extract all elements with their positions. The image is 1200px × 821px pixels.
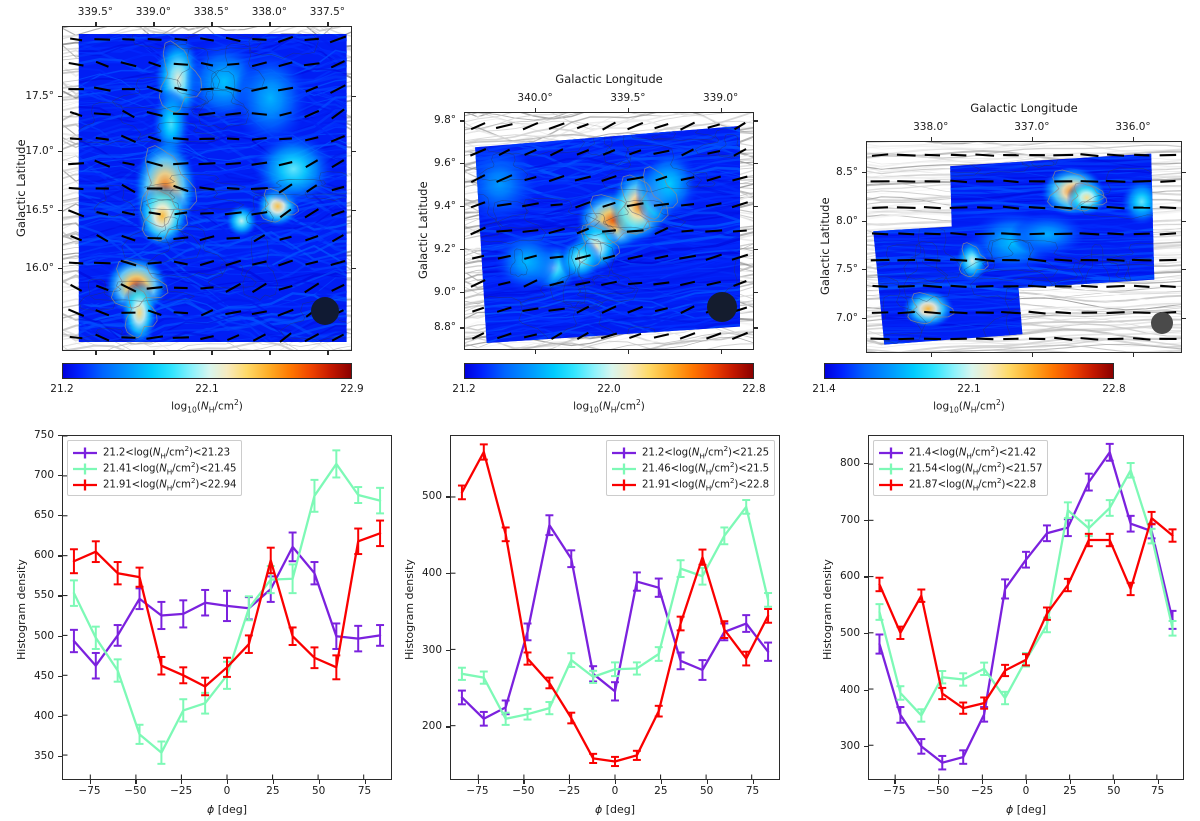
histogram-xtick-label: −25 (558, 785, 580, 797)
histogram-yaxis-label: Histogram density (403, 559, 416, 660)
histogram-xtick-mark (135, 780, 136, 784)
legend-item: 21.2<log(NH/cm2)<21.25 (611, 444, 769, 460)
colorbar (464, 363, 754, 379)
map-longitude-title: Galactic Longitude (866, 101, 1182, 115)
legend-label: 21.54<log(NH/cm2)<21.57 (909, 460, 1042, 476)
map-xtick-label: 339.5° (610, 92, 645, 104)
histogram-ytick-mark (58, 756, 62, 757)
map-ytick-label: 17.5° (25, 90, 54, 102)
colorbar-min-label: 21.2 (50, 383, 73, 395)
map-ytick-label: 9.6° (434, 157, 456, 169)
colorbar-axis-label: log10(NH/cm2) (824, 398, 1114, 415)
histogram-xtick-mark (1070, 780, 1071, 784)
map-ytick-mark (754, 120, 758, 121)
histogram-ytick-label: 600 (840, 570, 860, 582)
legend-color-key (611, 477, 637, 491)
histogram-ytick-mark (864, 746, 868, 747)
map-xtick-mark (269, 351, 270, 355)
histogram-xtick-mark (661, 780, 662, 784)
map-xtick-mark (1133, 353, 1134, 357)
histogram-ytick-label: 400 (840, 684, 860, 696)
histogram-ytick-label: 550 (34, 589, 54, 601)
histogram-xtick-label: 25 (654, 785, 667, 797)
histogram-xtick-mark (181, 780, 182, 784)
map-ytick-mark (754, 206, 758, 207)
histogram-xtick-label: −25 (971, 785, 993, 797)
histogram-xtick-mark (569, 780, 570, 784)
histogram-xtick-label: 50 (700, 785, 713, 797)
histogram-xtick-mark (894, 780, 895, 784)
histogram-xtick-mark (1158, 780, 1159, 784)
histogram-ytick-label: 350 (34, 750, 54, 762)
histogram-xtick-label: −50 (512, 785, 534, 797)
map-canvas (63, 27, 351, 350)
histogram-xtick-label: 25 (1063, 785, 1076, 797)
map-ytick-label: 9.0° (434, 286, 456, 298)
histogram-ytick-mark (864, 463, 868, 464)
histogram-yaxis-label: Histogram density (15, 559, 28, 660)
histogram-xtick-mark (227, 780, 228, 784)
histogram-ytick-label: 400 (34, 710, 54, 722)
histogram-xtick-label: −50 (927, 785, 949, 797)
histogram-xtick-mark (523, 780, 524, 784)
map-ytick-mark (352, 210, 356, 211)
legend-label: 21.41<log(NH/cm2)<21.45 (103, 460, 236, 476)
legend-label: 21.2<log(NH/cm2)<21.23 (103, 444, 230, 460)
legend-label: 21.91<log(NH/cm2)<22.8 (642, 476, 769, 492)
legend-item: 21.91<log(NH/cm2)<22.8 (611, 476, 769, 492)
map-xtick-mark (535, 350, 536, 354)
histogram-ytick-mark (58, 636, 62, 637)
legend-color-key (878, 477, 904, 491)
colorbar-mid-label: 22.0 (597, 383, 620, 395)
histogram-xaxis-label: ϕ [deg] (62, 803, 392, 816)
histogram-xtick-label: −25 (170, 785, 192, 797)
legend-color-key (72, 461, 98, 475)
histogram-ytick-label: 400 (422, 567, 442, 579)
legend-item: 21.4<log(NH/cm2)<21.42 (878, 444, 1042, 460)
map-ytick-label: 8.0° (836, 215, 858, 227)
map-ytick-label: 9.4° (434, 200, 456, 212)
map-longitude-title: Galactic Longitude (464, 72, 754, 86)
legend-item: 21.41<log(NH/cm2)<21.45 (72, 460, 236, 476)
map-xtick-label: 338.0° (913, 121, 948, 133)
histogram-xtick-mark (938, 780, 939, 784)
map-ytick-label: 9.8° (434, 114, 456, 126)
map-ytick-mark (1182, 318, 1186, 319)
histogram-ytick-label: 700 (34, 469, 54, 481)
map-xtick-mark (1032, 353, 1033, 357)
histogram-ytick-label: 700 (840, 514, 860, 526)
map-xtick-label: 337.5° (310, 6, 345, 18)
map-panel-left (62, 26, 352, 351)
histogram-legend: 21.4<log(NH/cm2)<21.4221.54<log(NH/cm2)<… (873, 440, 1048, 496)
map-latitude-title: Galactic Latitude (416, 181, 430, 279)
histogram-ytick-mark (58, 716, 62, 717)
legend-label: 21.91<log(NH/cm2)<22.94 (103, 476, 236, 492)
histogram-ytick-label: 800 (840, 457, 860, 469)
histogram-ytick-mark (58, 555, 62, 556)
map-xtick-mark (153, 351, 154, 355)
histogram-ytick-mark (446, 573, 450, 574)
histogram-xtick-label: −75 (883, 785, 905, 797)
map-ytick-mark (754, 249, 758, 250)
map-ytick-label: 7.0° (836, 312, 858, 324)
histogram-legend: 21.2<log(NH/cm2)<21.2321.41<log(NH/cm2)<… (67, 440, 242, 496)
legend-color-key (878, 461, 904, 475)
map-ytick-label: 17.0° (25, 145, 54, 157)
histogram-ytick-mark (58, 435, 62, 436)
histogram-ytick-label: 300 (422, 644, 442, 656)
colorbar-max-label: 22.8 (1102, 383, 1125, 395)
histogram-ytick-mark (446, 650, 450, 651)
histogram-xtick-label: 50 (312, 785, 325, 797)
map-ytick-mark (1182, 221, 1186, 222)
map-ytick-label: 16.0° (25, 262, 54, 274)
legend-label: 21.87<log(NH/cm2)<22.8 (909, 476, 1036, 492)
colorbar-gradient (465, 364, 753, 378)
map-ytick-mark (754, 163, 758, 164)
map-latitude-title: Galactic Latitude (818, 197, 832, 295)
colorbar-min-label: 21.2 (452, 383, 475, 395)
map-xtick-label: 338.5° (194, 6, 229, 18)
histogram-xtick-label: 75 (746, 785, 759, 797)
map-xtick-label: 339.0° (703, 92, 738, 104)
map-ytick-label: 8.5° (836, 166, 858, 178)
histogram-ytick-mark (864, 633, 868, 634)
colorbar (62, 363, 352, 379)
colorbar-gradient (825, 364, 1113, 378)
map-ytick-mark (352, 268, 356, 269)
map-xtick-label: 340.0° (517, 92, 552, 104)
histogram-ytick-label: 450 (34, 670, 54, 682)
colorbar-max-label: 22.8 (742, 383, 765, 395)
histogram-legend: 21.2<log(NH/cm2)<21.2521.46<log(NH/cm2)<… (606, 440, 775, 496)
map-xtick-label: 339.0° (136, 6, 171, 18)
histogram-xtick-mark (319, 780, 320, 784)
histogram-xtick-label: 75 (1151, 785, 1164, 797)
histogram-xtick-label: 0 (1023, 785, 1030, 797)
histogram-ytick-mark (864, 520, 868, 521)
histogram-xtick-label: 0 (612, 785, 619, 797)
histogram-ytick-mark (446, 496, 450, 497)
map-xtick-mark (931, 353, 932, 357)
colorbar-mid-label: 22.1 (957, 383, 980, 395)
legend-item: 21.2<log(NH/cm2)<21.23 (72, 444, 236, 460)
figure-root: Galactic Longitude339.5°339.0°338.5°338.… (0, 0, 1200, 821)
histogram-xaxis-label: ϕ [deg] (868, 803, 1184, 816)
map-xtick-mark (628, 350, 629, 354)
histogram-ytick-mark (446, 726, 450, 727)
histogram-ytick-mark (864, 690, 868, 691)
map-xtick-mark (721, 350, 722, 354)
legend-label: 21.2<log(NH/cm2)<21.25 (642, 444, 769, 460)
map-xtick-label: 336.0° (1115, 121, 1150, 133)
legend-item: 21.46<log(NH/cm2)<21.5 (611, 460, 769, 476)
colorbar-gradient (63, 364, 351, 378)
histogram-ytick-label: 500 (422, 490, 442, 502)
colorbar-max-label: 22.9 (340, 383, 363, 395)
histogram-ytick-label: 650 (34, 509, 54, 521)
legend-color-key (611, 445, 637, 459)
map-ytick-mark (1182, 269, 1186, 270)
histogram-xtick-mark (1026, 780, 1027, 784)
beam-size-indicator (707, 292, 737, 322)
histogram-ytick-label: 300 (840, 740, 860, 752)
histogram-xtick-label: −75 (466, 785, 488, 797)
map-xtick-mark (95, 351, 96, 355)
map-xtick-mark (211, 351, 212, 355)
map-ytick-label: 9.2° (434, 243, 456, 255)
map-xtick-label: 338.0° (252, 6, 287, 18)
colorbar (824, 363, 1114, 379)
legend-color-key (72, 445, 98, 459)
legend-color-key (611, 461, 637, 475)
histogram-ytick-label: 200 (422, 720, 442, 732)
histogram-ytick-mark (58, 595, 62, 596)
legend-label: 21.46<log(NH/cm2)<21.5 (642, 460, 769, 476)
map-ytick-mark (352, 96, 356, 97)
colorbar-min-label: 21.4 (812, 383, 835, 395)
map-xtick-mark (327, 351, 328, 355)
legend-item: 21.91<log(NH/cm2)<22.94 (72, 476, 236, 492)
histogram-ytick-label: 750 (34, 429, 54, 441)
histogram-ytick-mark (58, 475, 62, 476)
map-panel-middle (464, 112, 754, 350)
histogram-xtick-label: 0 (224, 785, 231, 797)
histogram-ytick-label: 600 (34, 549, 54, 561)
histogram-xtick-mark (1114, 780, 1115, 784)
legend-label: 21.4<log(NH/cm2)<21.42 (909, 444, 1036, 460)
histogram-xtick-mark (273, 780, 274, 784)
histogram-xtick-label: 75 (358, 785, 371, 797)
histogram-ytick-mark (58, 515, 62, 516)
map-panel-right (866, 141, 1182, 353)
histogram-xtick-mark (615, 780, 616, 784)
histogram-xtick-label: 25 (266, 785, 279, 797)
histogram-yaxis-label: Histogram density (821, 559, 834, 660)
map-ytick-label: 7.5° (836, 263, 858, 275)
map-xtick-label: 339.5° (78, 6, 113, 18)
map-ytick-mark (352, 151, 356, 152)
histogram-xaxis-label: ϕ [deg] (450, 803, 780, 816)
legend-item: 21.87<log(NH/cm2)<22.8 (878, 476, 1042, 492)
colorbar-axis-label: log10(NH/cm2) (464, 398, 754, 415)
map-ytick-mark (754, 327, 758, 328)
histogram-xtick-mark (753, 780, 754, 784)
colorbar-mid-label: 22.1 (195, 383, 218, 395)
map-xtick-label: 337.0° (1014, 121, 1049, 133)
histogram-xtick-label: −75 (78, 785, 100, 797)
map-ytick-label: 16.5° (25, 204, 54, 216)
histogram-ytick-mark (864, 576, 868, 577)
map-canvas (867, 142, 1181, 352)
histogram-xtick-mark (982, 780, 983, 784)
histogram-xtick-mark (365, 780, 366, 784)
map-ytick-label: 8.8° (434, 321, 456, 333)
map-ytick-mark (754, 292, 758, 293)
histogram-xtick-label: −50 (124, 785, 146, 797)
histogram-ytick-label: 500 (34, 630, 54, 642)
series-3 (875, 512, 1176, 714)
legend-item: 21.54<log(NH/cm2)<21.57 (878, 460, 1042, 476)
histogram-xtick-mark (707, 780, 708, 784)
colorbar-axis-label: log10(NH/cm2) (62, 398, 352, 415)
map-ytick-mark (1182, 172, 1186, 173)
legend-color-key (72, 477, 98, 491)
histogram-xtick-label: 50 (1107, 785, 1120, 797)
histogram-ytick-label: 500 (840, 627, 860, 639)
histogram-xtick-mark (478, 780, 479, 784)
histogram-ytick-mark (58, 676, 62, 677)
legend-color-key (878, 445, 904, 459)
histogram-xtick-mark (90, 780, 91, 784)
